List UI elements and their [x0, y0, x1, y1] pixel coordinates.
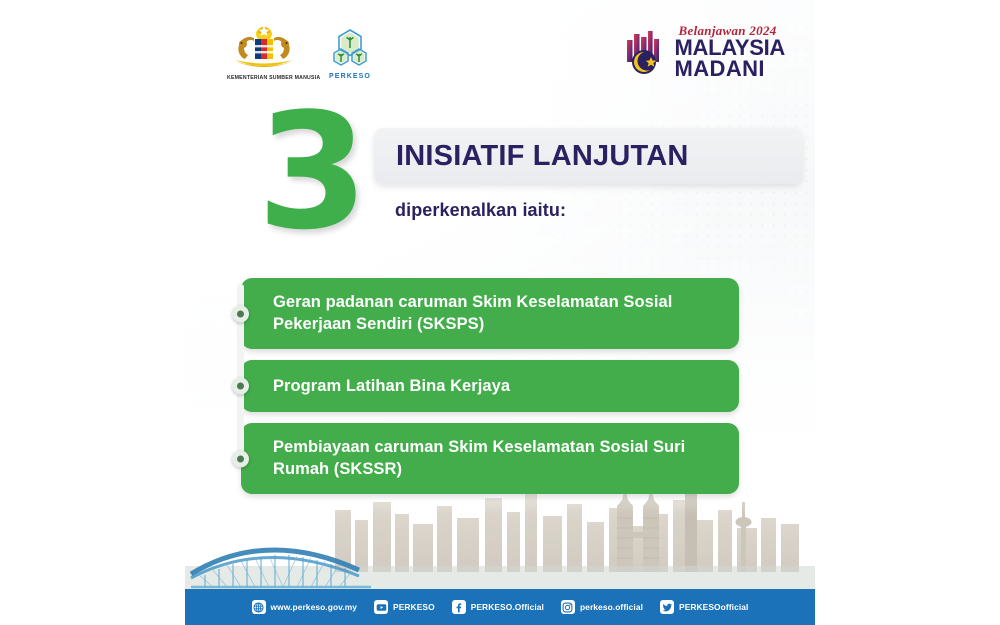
ministry-label: KEMENTERIAN SUMBER MANUSIA: [227, 75, 301, 81]
perkeso-infographic-poster: KEMENTERIAN SUMBER MANUSIA: [185, 0, 815, 625]
social-label: PERKESO: [393, 602, 435, 612]
hero-title-banner: INISIATIF LANJUTAN: [374, 128, 802, 184]
youtube-icon: [374, 600, 388, 614]
madani-line-2: MADANI: [675, 59, 785, 80]
perkeso-logo-block: PERKESO: [319, 28, 381, 81]
initiative-text: Pembiayaan caruman Skim Keselamatan Sosi…: [273, 436, 717, 480]
perkeso-hexagon-logo-icon: [330, 28, 370, 70]
list-item: Geran padanan caruman Skim Keselamatan S…: [185, 278, 815, 349]
madani-skyline-crescent-icon: [624, 28, 668, 76]
facebook-icon: [452, 600, 466, 614]
twitter-icon: [660, 600, 674, 614]
initiatives-list: Geran padanan caruman Skim Keselamatan S…: [185, 278, 815, 505]
social-link-youtube[interactable]: PERKESO: [374, 600, 435, 614]
social-link-twitter[interactable]: PERKESOofficial: [660, 600, 748, 614]
poster-header: KEMENTERIAN SUMBER MANUSIA: [185, 18, 815, 98]
hero-title: INISIATIF LANJUTAN: [374, 140, 689, 173]
initiative-text: Program Latihan Bina Kerjaya: [273, 375, 510, 397]
perkeso-label: PERKESO: [319, 73, 381, 80]
hero-section: 3 INISIATIF LANJUTAN diperkenalkan iaitu…: [185, 104, 815, 254]
social-label: PERKESO.Official: [471, 602, 544, 612]
bullet-marker-icon: [232, 305, 249, 322]
madani-wordmark: Belanjawan 2024 MALAYSIA MADANI: [675, 24, 785, 79]
social-label: perkeso.official: [580, 602, 643, 612]
globe-icon: [252, 600, 266, 614]
screenshot-canvas: KEMENTERIAN SUMBER MANUSIA: [0, 0, 1000, 625]
social-link-website[interactable]: www.perkeso.gov.my: [252, 600, 358, 614]
bullet-marker-icon: [232, 450, 249, 467]
instagram-icon: [561, 600, 575, 614]
social-label: www.perkeso.gov.my: [271, 602, 358, 612]
social-footer-bar: www.perkeso.gov.my PERKESO PERKESO.: [185, 589, 815, 625]
bullet-marker-icon: [232, 378, 249, 395]
ministry-logo-block: KEMENTERIAN SUMBER MANUSIA: [227, 22, 301, 81]
hero-subtitle: diperkenalkan iaitu:: [395, 200, 566, 221]
social-label: PERKESOofficial: [679, 602, 748, 612]
initiative-pill: Pembiayaan caruman Skim Keselamatan Sosi…: [241, 423, 739, 494]
initiative-count-number: 3: [257, 92, 362, 252]
list-item: Pembiayaan caruman Skim Keselamatan Sosi…: [185, 423, 815, 494]
initiative-pill: Geran padanan caruman Skim Keselamatan S…: [241, 278, 739, 349]
social-link-instagram[interactable]: perkeso.official: [561, 600, 643, 614]
initiative-text: Geran padanan caruman Skim Keselamatan S…: [273, 291, 717, 335]
social-link-facebook[interactable]: PERKESO.Official: [452, 600, 544, 614]
madani-campaign-logo: Belanjawan 2024 MALAYSIA MADANI: [624, 24, 785, 79]
initiative-pill: Program Latihan Bina Kerjaya: [241, 360, 739, 412]
malaysia-coat-of-arms-icon: [227, 22, 301, 72]
list-item: Program Latihan Bina Kerjaya: [185, 360, 815, 412]
header-logos-left: KEMENTERIAN SUMBER MANUSIA: [227, 22, 381, 81]
